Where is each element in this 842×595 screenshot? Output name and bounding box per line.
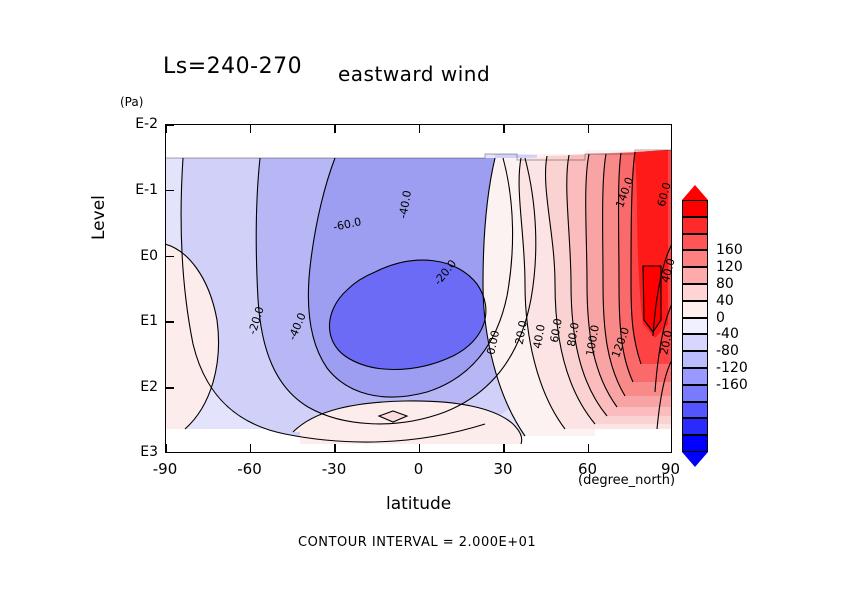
colorbar-swatch	[682, 418, 708, 435]
y-tick-label: E-2	[135, 116, 158, 132]
contour-plot-area: -60.0 -40.0 -20.0 -20.0 -40.0 0.00 20.0 …	[165, 124, 672, 453]
y-tick-label: E1	[140, 313, 158, 329]
colorbar-swatch	[682, 200, 708, 217]
x-tick-label: -30	[322, 460, 347, 478]
colorbar-swatch	[682, 284, 708, 301]
x-axis-title: latitude	[386, 494, 451, 514]
contour-interval-caption: CONTOUR INTERVAL = 2.000E+01	[298, 535, 536, 550]
y-tick-label: E-1	[135, 182, 158, 198]
colorbar-swatch	[682, 250, 708, 267]
colorbar-swatch	[682, 351, 708, 368]
colorbar-swatch	[682, 385, 708, 402]
x-tick-label: 0	[414, 460, 424, 478]
colorbar: 16012080400-40-80-120-160	[682, 200, 708, 452]
colorbar-tick-label: -120	[716, 360, 748, 376]
colorbar-tick-label: -40	[716, 326, 739, 342]
colorbar-tick-label: -160	[716, 377, 748, 393]
colorbar-tick-label: 80	[716, 276, 734, 292]
colorbar-tick-label: 120	[716, 259, 743, 275]
colorbar-swatch	[682, 267, 708, 284]
colorbar-swatch	[682, 368, 708, 385]
colorbar-swatch	[682, 402, 708, 419]
plot-frame	[165, 124, 672, 453]
colorbar-tick-label: -80	[716, 343, 739, 359]
colorbar-swatch	[682, 217, 708, 234]
colorbar-swatch	[682, 334, 708, 351]
x-tick-label: 90	[661, 460, 680, 478]
colorbar-swatch	[682, 435, 708, 452]
colorbar-swatch	[682, 301, 708, 318]
x-tick-label: -90	[153, 460, 178, 478]
colorbar-swatch	[682, 318, 708, 335]
colorbar-tick-label: 40	[716, 293, 734, 309]
colorbar-cap-low	[682, 452, 708, 467]
plot-title-ls: Ls=240-270	[163, 54, 302, 79]
colorbar-cap-high	[682, 185, 708, 200]
y-axis-title: Level	[89, 195, 109, 240]
y-tick-label: E2	[140, 379, 158, 395]
y-tick-label: E0	[140, 248, 158, 264]
colorbar-swatch	[682, 234, 708, 251]
y-axis-unit-label: (Pa)	[120, 95, 143, 109]
colorbar-tick-label: 0	[716, 310, 725, 326]
y-tick-label: E3	[140, 444, 158, 460]
x-tick-label: -60	[237, 460, 262, 478]
x-tick-label: 60	[578, 460, 597, 478]
colorbar-tick-label: 160	[716, 242, 743, 258]
x-tick-label: 30	[493, 460, 512, 478]
plot-title-variable: eastward wind	[338, 62, 490, 86]
